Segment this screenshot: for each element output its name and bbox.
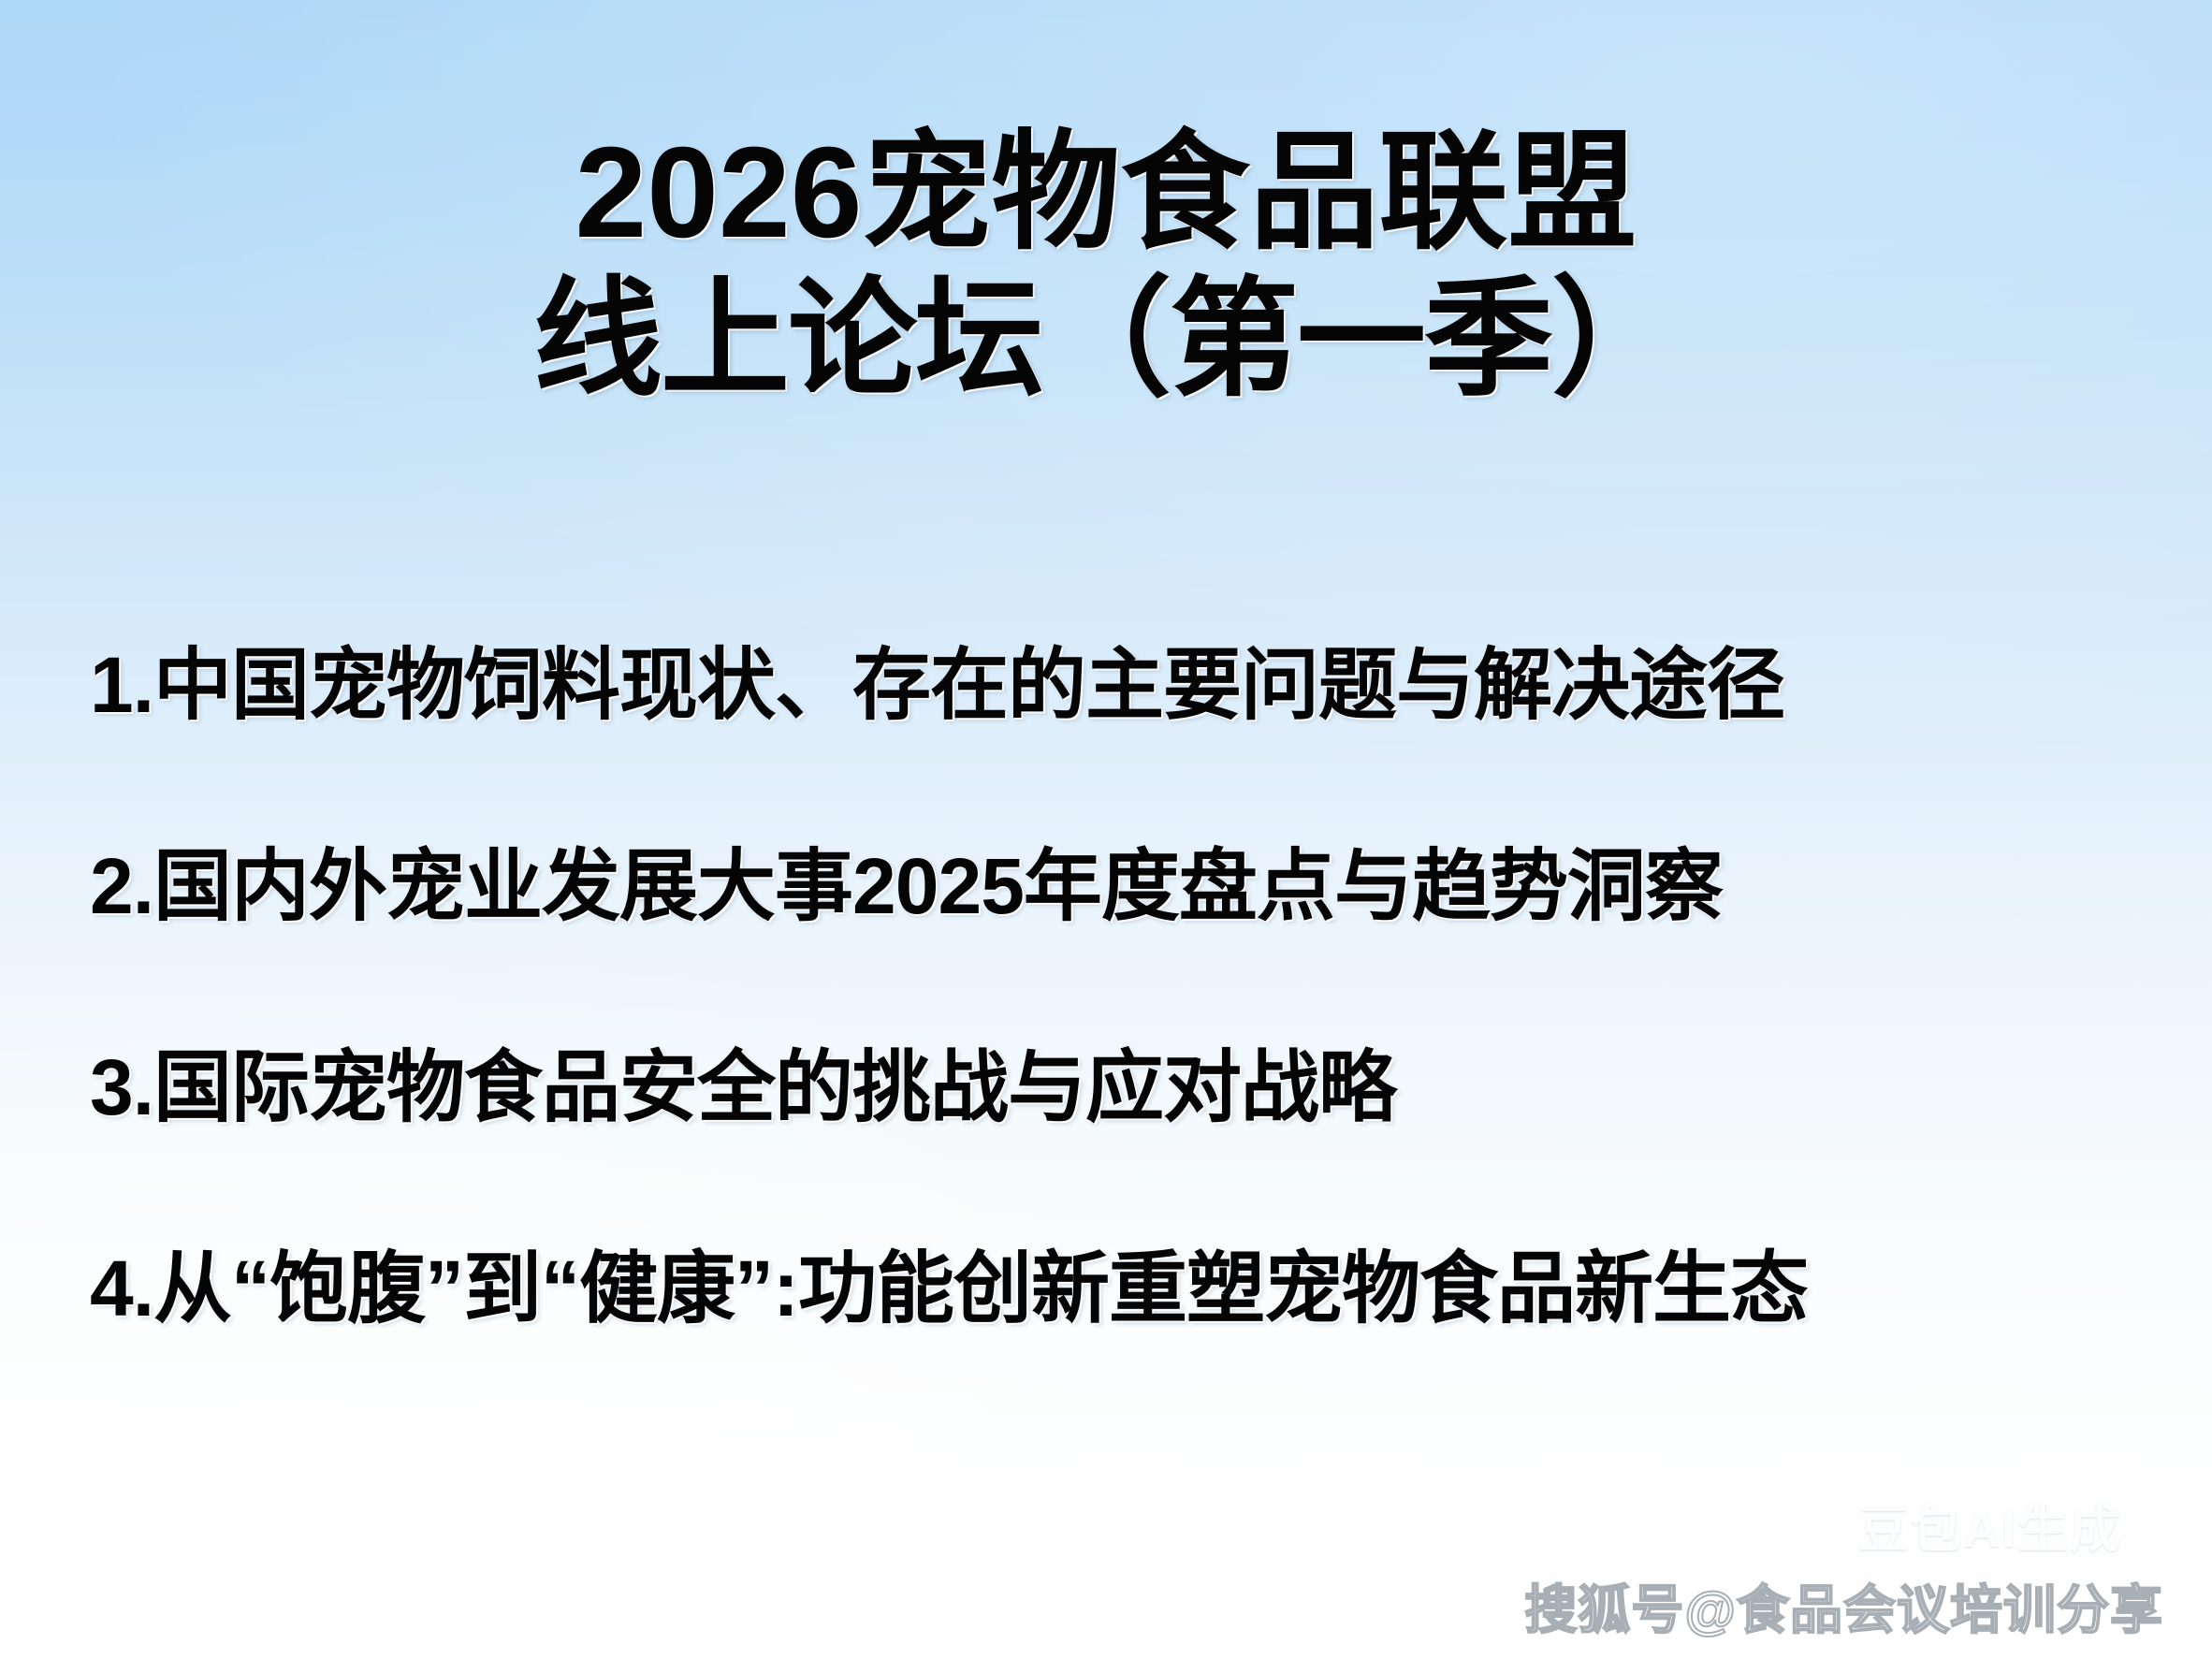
poster-content: 2026宠物食品联盟 线上论坛（第一季） 1.中国宠物饲料现状、存在的主要问题与…	[0, 0, 2212, 1659]
title-line-2: 线上论坛（第一季）	[0, 267, 2212, 414]
poster-title: 2026宠物食品联盟 线上论坛（第一季）	[0, 120, 2212, 415]
ai-generated-watermark: 豆包AI生成	[1858, 1488, 2122, 1562]
agenda-item-3: 3.国际宠物食品安全的挑战与应对战略	[90, 1048, 2156, 1127]
agenda-item-1: 1.中国宠物饲料现状、存在的主要问题与解决途径	[90, 646, 2156, 724]
agenda-list: 1.中国宠物饲料现状、存在的主要问题与解决途径 2.国内外宠业发展大事2025年…	[90, 646, 2156, 1328]
account-watermark: 搜狐号@食品会议培训分享	[1524, 1568, 2163, 1644]
agenda-item-2: 2.国内外宠业发展大事2025年度盘点与趋势洞察	[90, 847, 2156, 925]
agenda-item-4: 4.从“饱腹”到“健康”:功能创新重塑宠物食品新生态	[90, 1249, 2156, 1328]
title-line-1: 2026宠物食品联盟	[0, 120, 2212, 267]
poster-slide: 2026宠物食品联盟 线上论坛（第一季） 1.中国宠物饲料现状、存在的主要问题与…	[0, 0, 2212, 1659]
